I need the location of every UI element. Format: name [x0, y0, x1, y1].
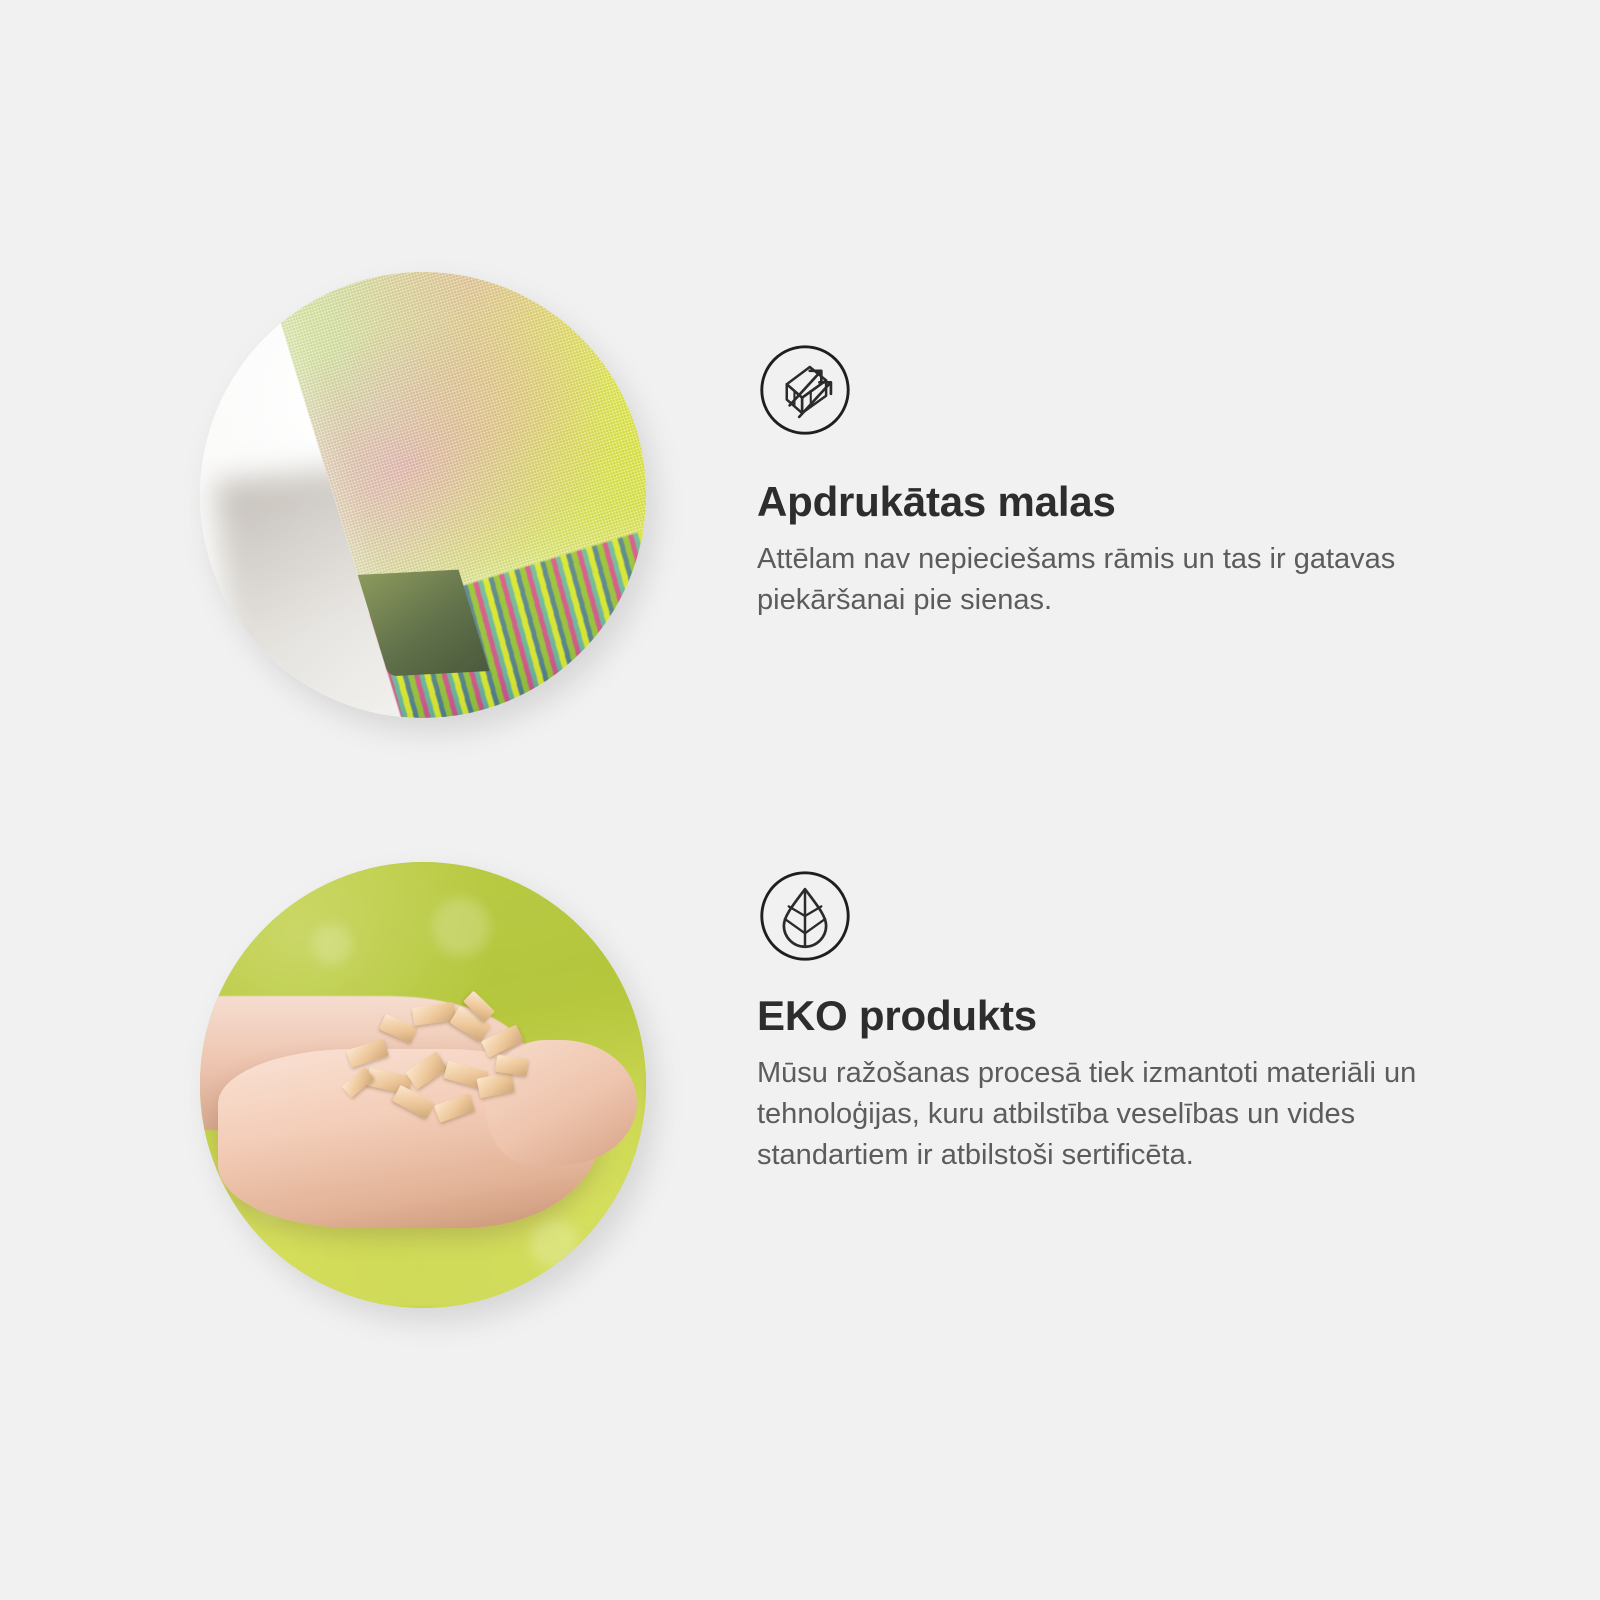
feature-image-eco-product — [200, 862, 646, 1308]
feature-title: EKO produkts — [757, 992, 1497, 1039]
leaf-icon — [757, 868, 853, 964]
wood-chip-pile — [325, 987, 557, 1139]
canvas-wrapped-edge-icon — [757, 342, 853, 438]
feature-highlights-page: Apdrukātas malas Attēlam nav nepieciešam… — [0, 0, 1600, 1600]
feature-text-eco-product: EKO produkts Mūsu ražošanas procesā tiek… — [757, 800, 1497, 1177]
feature-block-printed-edges: Apdrukātas malas Attēlam nav nepieciešam… — [0, 210, 1600, 870]
wood-chip — [406, 1051, 449, 1089]
canvas-print-corner-photo — [200, 272, 646, 718]
feature-block-eco-product: EKO produkts Mūsu ražošanas procesā tiek… — [0, 800, 1600, 1460]
bokeh-highlight — [312, 924, 352, 964]
wood-chip — [346, 1039, 389, 1068]
wood-chip — [392, 1085, 435, 1120]
feature-image-printed-edges — [200, 272, 646, 718]
bokeh-highlight — [530, 1219, 579, 1268]
circular-image-mask — [200, 272, 646, 718]
feature-description: Attēlam nav nepieciešams rāmis un tas ir… — [757, 539, 1467, 621]
wood-chip — [434, 1093, 475, 1123]
wood-chip — [495, 1054, 529, 1075]
feature-text-printed-edges: Apdrukātas malas Attēlam nav nepieciešam… — [757, 210, 1497, 621]
wood-chip — [379, 1014, 418, 1043]
feature-description: Mūsu ražošanas procesā tiek izmantoti ma… — [757, 1053, 1467, 1177]
bokeh-highlight — [432, 898, 490, 956]
circular-image-mask — [200, 862, 646, 1308]
feature-title: Apdrukātas malas — [757, 478, 1497, 525]
hands-holding-wood-chips-photo — [200, 862, 646, 1308]
